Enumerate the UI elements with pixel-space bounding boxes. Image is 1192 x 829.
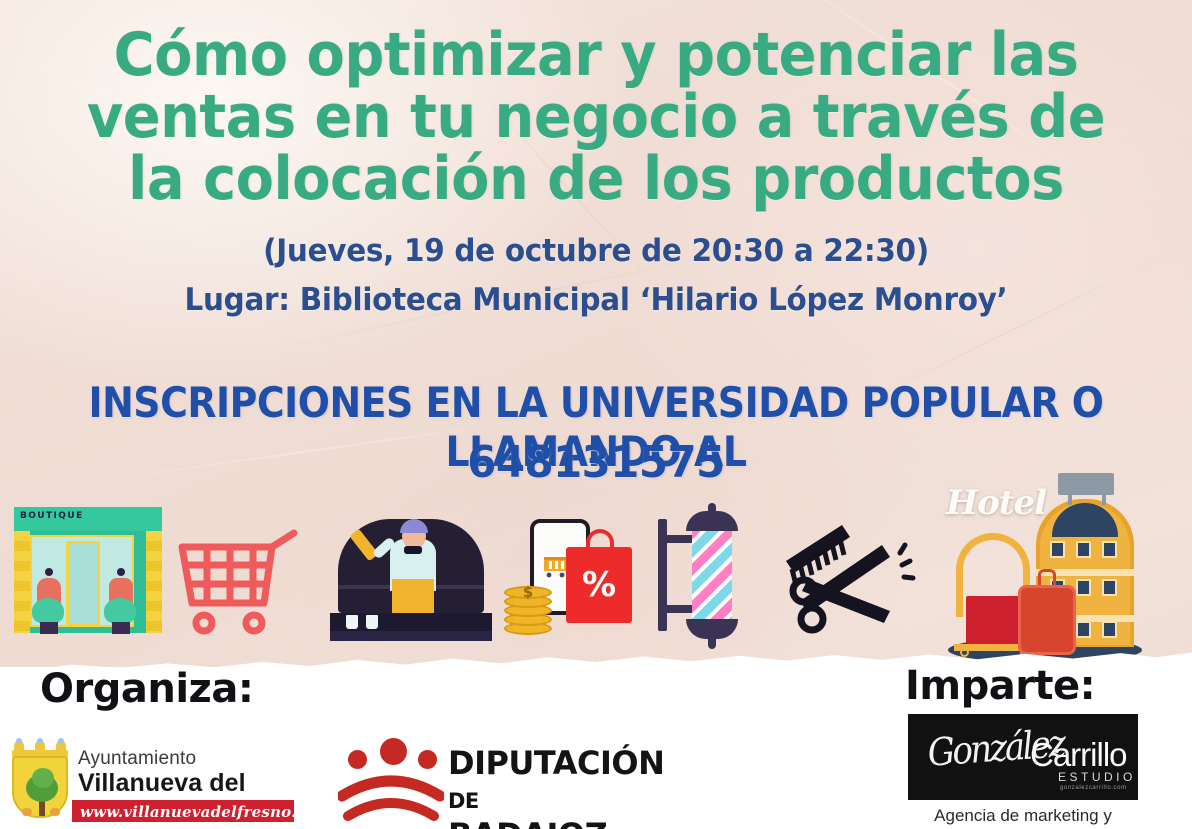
coin-dollar-symbol: $ (504, 583, 552, 601)
carrillo-tagline: Agencia de marketing y publicidad (898, 806, 1148, 829)
event-location: Lugar: Biblioteca Municipal ‘Hilario Lóp… (30, 281, 1162, 319)
diputacion-line2: DE BADAJOZ (448, 778, 630, 829)
ayuntamiento-line1: Ayuntamiento (78, 748, 196, 770)
discount-percent-symbol: % (566, 565, 632, 605)
hotel-icon: Hotel (940, 469, 1150, 665)
barber-pole-icon (654, 501, 750, 649)
carrillo-name: Carrillo (1030, 736, 1127, 774)
event-datetime: (Jueves, 19 de octubre de 20:30 a 22:30) (30, 232, 1162, 270)
ecommerce-discount-icon: $ % (498, 517, 648, 641)
diputacion-de: DE (448, 789, 479, 813)
carrillo-estudio: ESTUDIO (1058, 770, 1136, 784)
page-title: Cómo optimizar y potenciar las ventas en… (42, 24, 1151, 210)
coin-stack-icon: $ (504, 573, 556, 635)
diputacion-badajoz: BADAJOZ (448, 816, 607, 829)
ayuntamiento-website[interactable]: www.villanuevadelfresno.es (72, 800, 294, 822)
bartender-icon (328, 513, 494, 641)
organiza-label: Organiza: (40, 666, 253, 712)
boutique-storefront-icon: BOUTIQUE (8, 503, 168, 638)
boutique-sign-text: BOUTIQUE (20, 511, 84, 521)
event-poster: Cómo optimizar y potenciar las ventas en… (0, 0, 1192, 829)
ayuntamiento-url-text: www.villanuevadelfresno.es (72, 800, 294, 821)
carrillo-web: gonzalezcarrillo.com (1060, 785, 1127, 791)
carrillo-studio-logo: González Carrillo ESTUDIO gonzalezcarril… (908, 714, 1138, 800)
shopping-cart-icon (176, 529, 312, 635)
ayuntamiento-crest-icon (8, 738, 72, 822)
diputacion-line1: DIPUTACIÓN (448, 744, 664, 782)
diputacion-logo: DIPUTACIÓN DE BADAJOZ (330, 724, 630, 824)
imparte-label: Imparte: (905, 663, 1095, 709)
scissors-comb-icon (778, 517, 918, 635)
hotel-script-label: Hotel (946, 483, 1046, 523)
business-icons-strip: BOUTIQUE (0, 455, 1192, 680)
ayuntamiento-logo: Ayuntamiento Villanueva del Fresno www.v… (0, 736, 300, 829)
